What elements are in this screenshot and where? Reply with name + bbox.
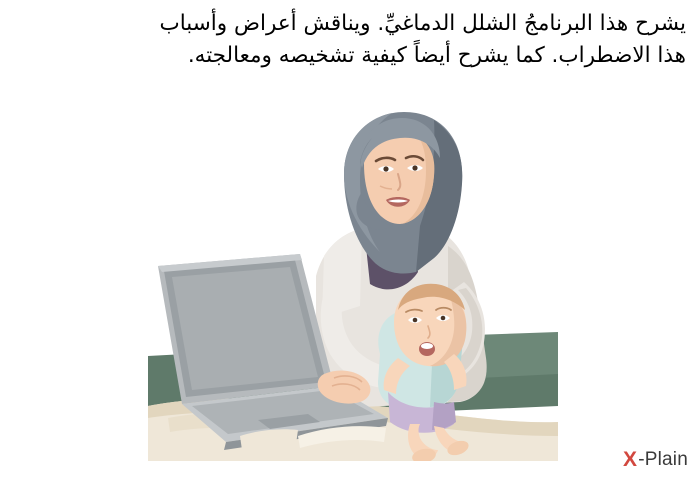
- brand-x-mark: X: [623, 448, 637, 472]
- page-root: يشرح هذا البرنامجُ الشلل الدماغيِّ. وينا…: [0, 0, 700, 480]
- brand-logo: X-Plain: [623, 448, 688, 472]
- headline-line-1: يشرح هذا البرنامجُ الشلل الدماغيِّ. وينا…: [14, 8, 686, 40]
- brand-name: -Plain: [638, 449, 688, 471]
- page-title: يشرح هذا البرنامجُ الشلل الدماغيِّ. وينا…: [14, 8, 686, 73]
- illustration-woman-baby-laptop: [148, 106, 558, 461]
- headline-line-2: هذا الاضطراب. كما يشرح أيضاً كيفية تشخيص…: [14, 40, 686, 72]
